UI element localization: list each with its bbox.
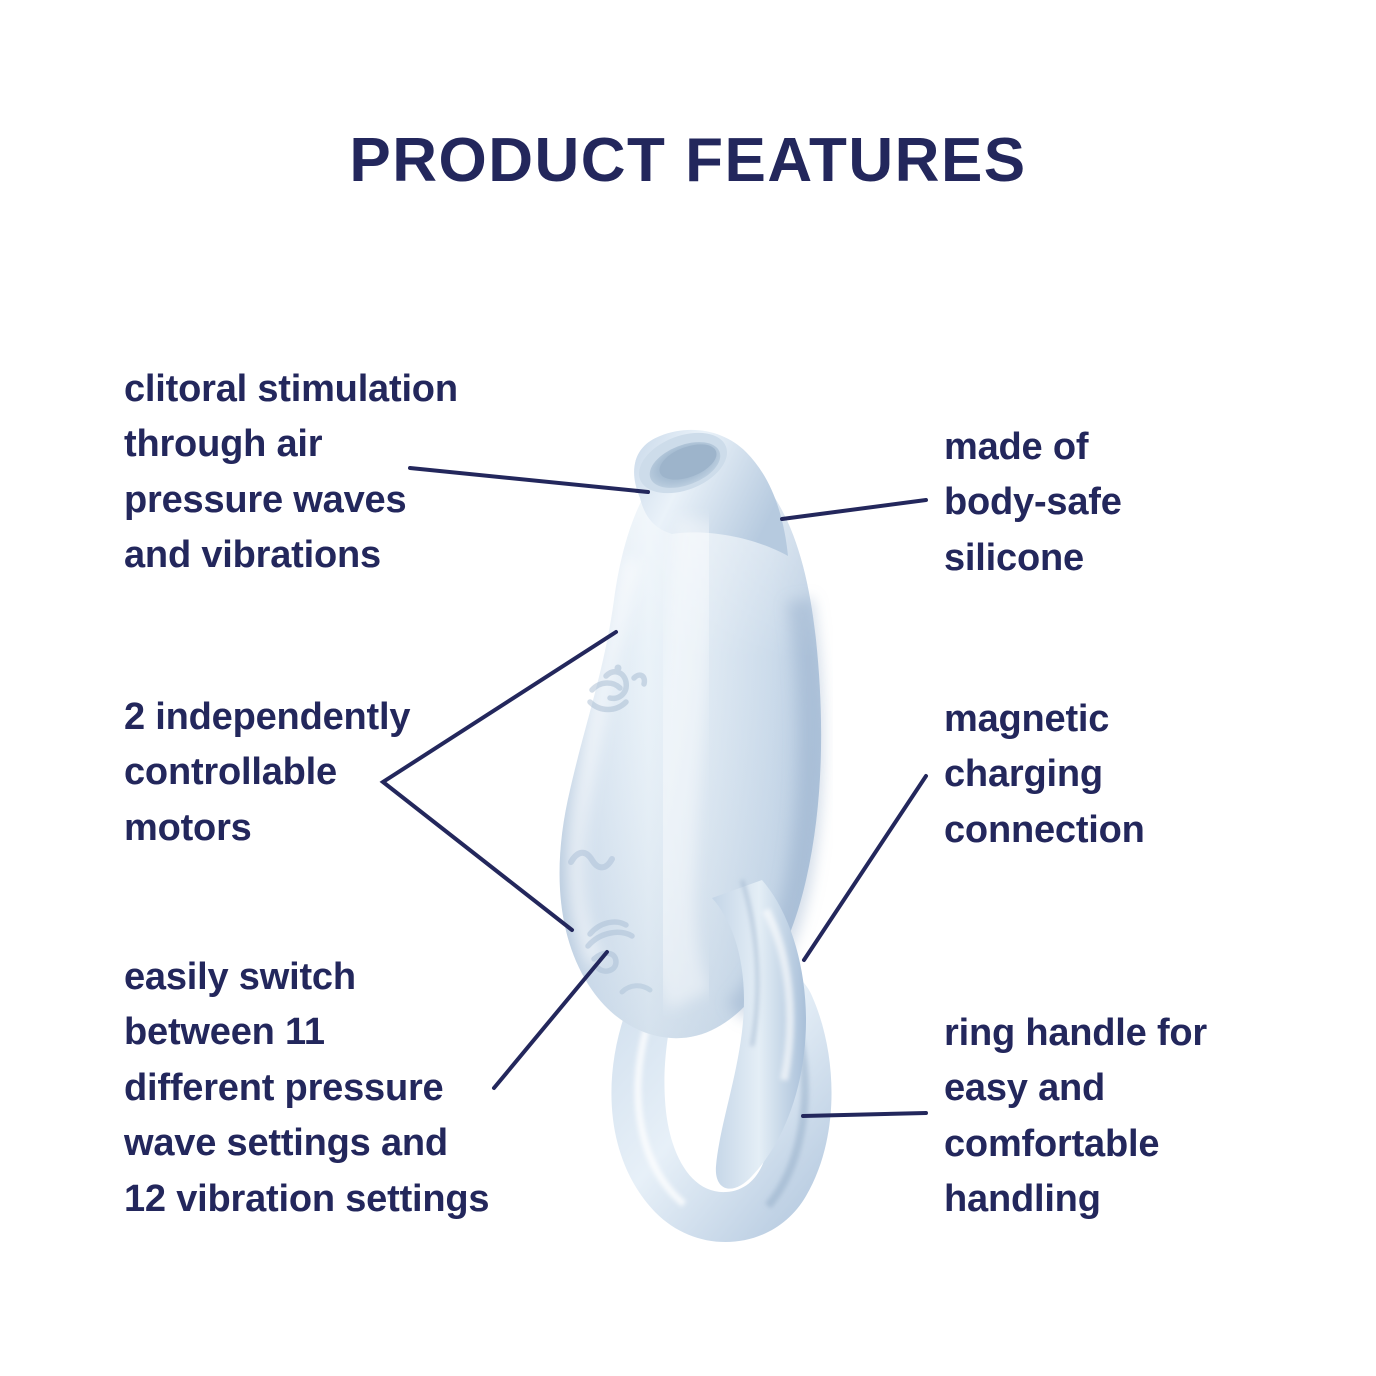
callout-line: body-safe [944, 475, 1274, 530]
callout-line: 2 independently [124, 690, 524, 745]
callout-line: easy and [944, 1061, 1304, 1116]
callout-ring-handle: ring handle for easy and comfortable han… [944, 1006, 1304, 1228]
product-body-shape [560, 421, 822, 1188]
callout-line: easily switch [124, 950, 564, 1005]
callout-line: comfortable [944, 1117, 1304, 1172]
callout-line: 12 vibration settings [124, 1172, 564, 1227]
callout-line: magnetic [944, 692, 1274, 747]
callout-magnetic-charging: magnetic charging connection [944, 692, 1274, 858]
callout-line: charging [944, 747, 1274, 802]
callout-line: wave settings and [124, 1116, 564, 1171]
callout-line: connection [944, 803, 1274, 858]
callout-line: pressure waves [124, 473, 544, 528]
callout-line: made of [944, 420, 1274, 475]
callout-clitoral-stimulation: clitoral stimulation through air pressur… [124, 362, 544, 584]
callout-line: between 11 [124, 1005, 564, 1060]
callout-line: handling [944, 1172, 1304, 1227]
callout-line: motors [124, 801, 524, 856]
callout-line: controllable [124, 745, 524, 800]
callout-line: different pressure [124, 1061, 564, 1116]
callout-line: and vibrations [124, 528, 544, 583]
callout-two-motors: 2 independently controllable motors [124, 690, 524, 856]
callout-line: ring handle for [944, 1006, 1304, 1061]
product-features-infographic: PRODUCT FEATURES [0, 0, 1376, 1376]
callout-line: clitoral stimulation [124, 362, 544, 417]
callout-body-safe-silicone: made of body-safe silicone [944, 420, 1274, 586]
callout-line: silicone [944, 531, 1274, 586]
callout-settings: easily switch between 11 different press… [124, 950, 564, 1227]
callout-line: through air [124, 417, 544, 472]
